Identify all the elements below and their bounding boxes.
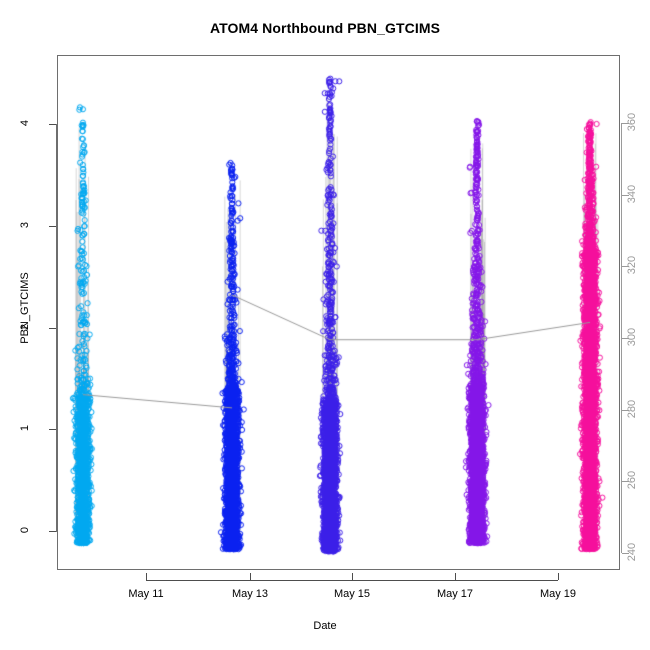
x-tick-label: May 17 bbox=[415, 588, 495, 600]
y-tick-right-label: 240 bbox=[626, 532, 638, 572]
y-tick-right-label: 300 bbox=[626, 317, 638, 357]
y-tick-right-label: 260 bbox=[626, 460, 638, 500]
y-tick-left bbox=[49, 226, 56, 227]
plot-panel-frame bbox=[57, 55, 620, 570]
x-tick-label: May 13 bbox=[210, 588, 290, 600]
x-tick bbox=[352, 573, 353, 580]
y-axis-left-label: PBN_GTCIMS bbox=[19, 238, 31, 378]
y-tick-left bbox=[49, 429, 56, 430]
x-tick bbox=[455, 573, 456, 580]
y-tick-right-label: 320 bbox=[626, 245, 638, 285]
y-tick-left bbox=[49, 124, 56, 125]
y-tick-right-label: 360 bbox=[626, 102, 638, 142]
y-tick-left-label: 1 bbox=[19, 408, 31, 448]
x-tick bbox=[146, 573, 147, 580]
x-tick-label: May 15 bbox=[312, 588, 392, 600]
y-tick-left-label: 0 bbox=[19, 510, 31, 550]
y-tick-right-label: 280 bbox=[626, 389, 638, 429]
x-tick-label: May 19 bbox=[518, 588, 598, 600]
y-tick-right-label: 340 bbox=[626, 174, 638, 214]
plot-root: ATOM4 Northbound PBN_GTCIMS 01234 PBN_GT… bbox=[0, 0, 650, 650]
x-tick bbox=[250, 573, 251, 580]
y-tick-left bbox=[49, 531, 56, 532]
x-tick bbox=[558, 573, 559, 580]
x-tick-label: May 11 bbox=[106, 588, 186, 600]
y-axis-left-line bbox=[56, 124, 57, 532]
x-axis-label: Date bbox=[0, 620, 650, 632]
page-title: ATOM4 Northbound PBN_GTCIMS bbox=[0, 20, 650, 36]
x-axis-line bbox=[146, 580, 558, 581]
y-tick-left bbox=[49, 328, 56, 329]
y-tick-left-label: 4 bbox=[19, 103, 31, 143]
